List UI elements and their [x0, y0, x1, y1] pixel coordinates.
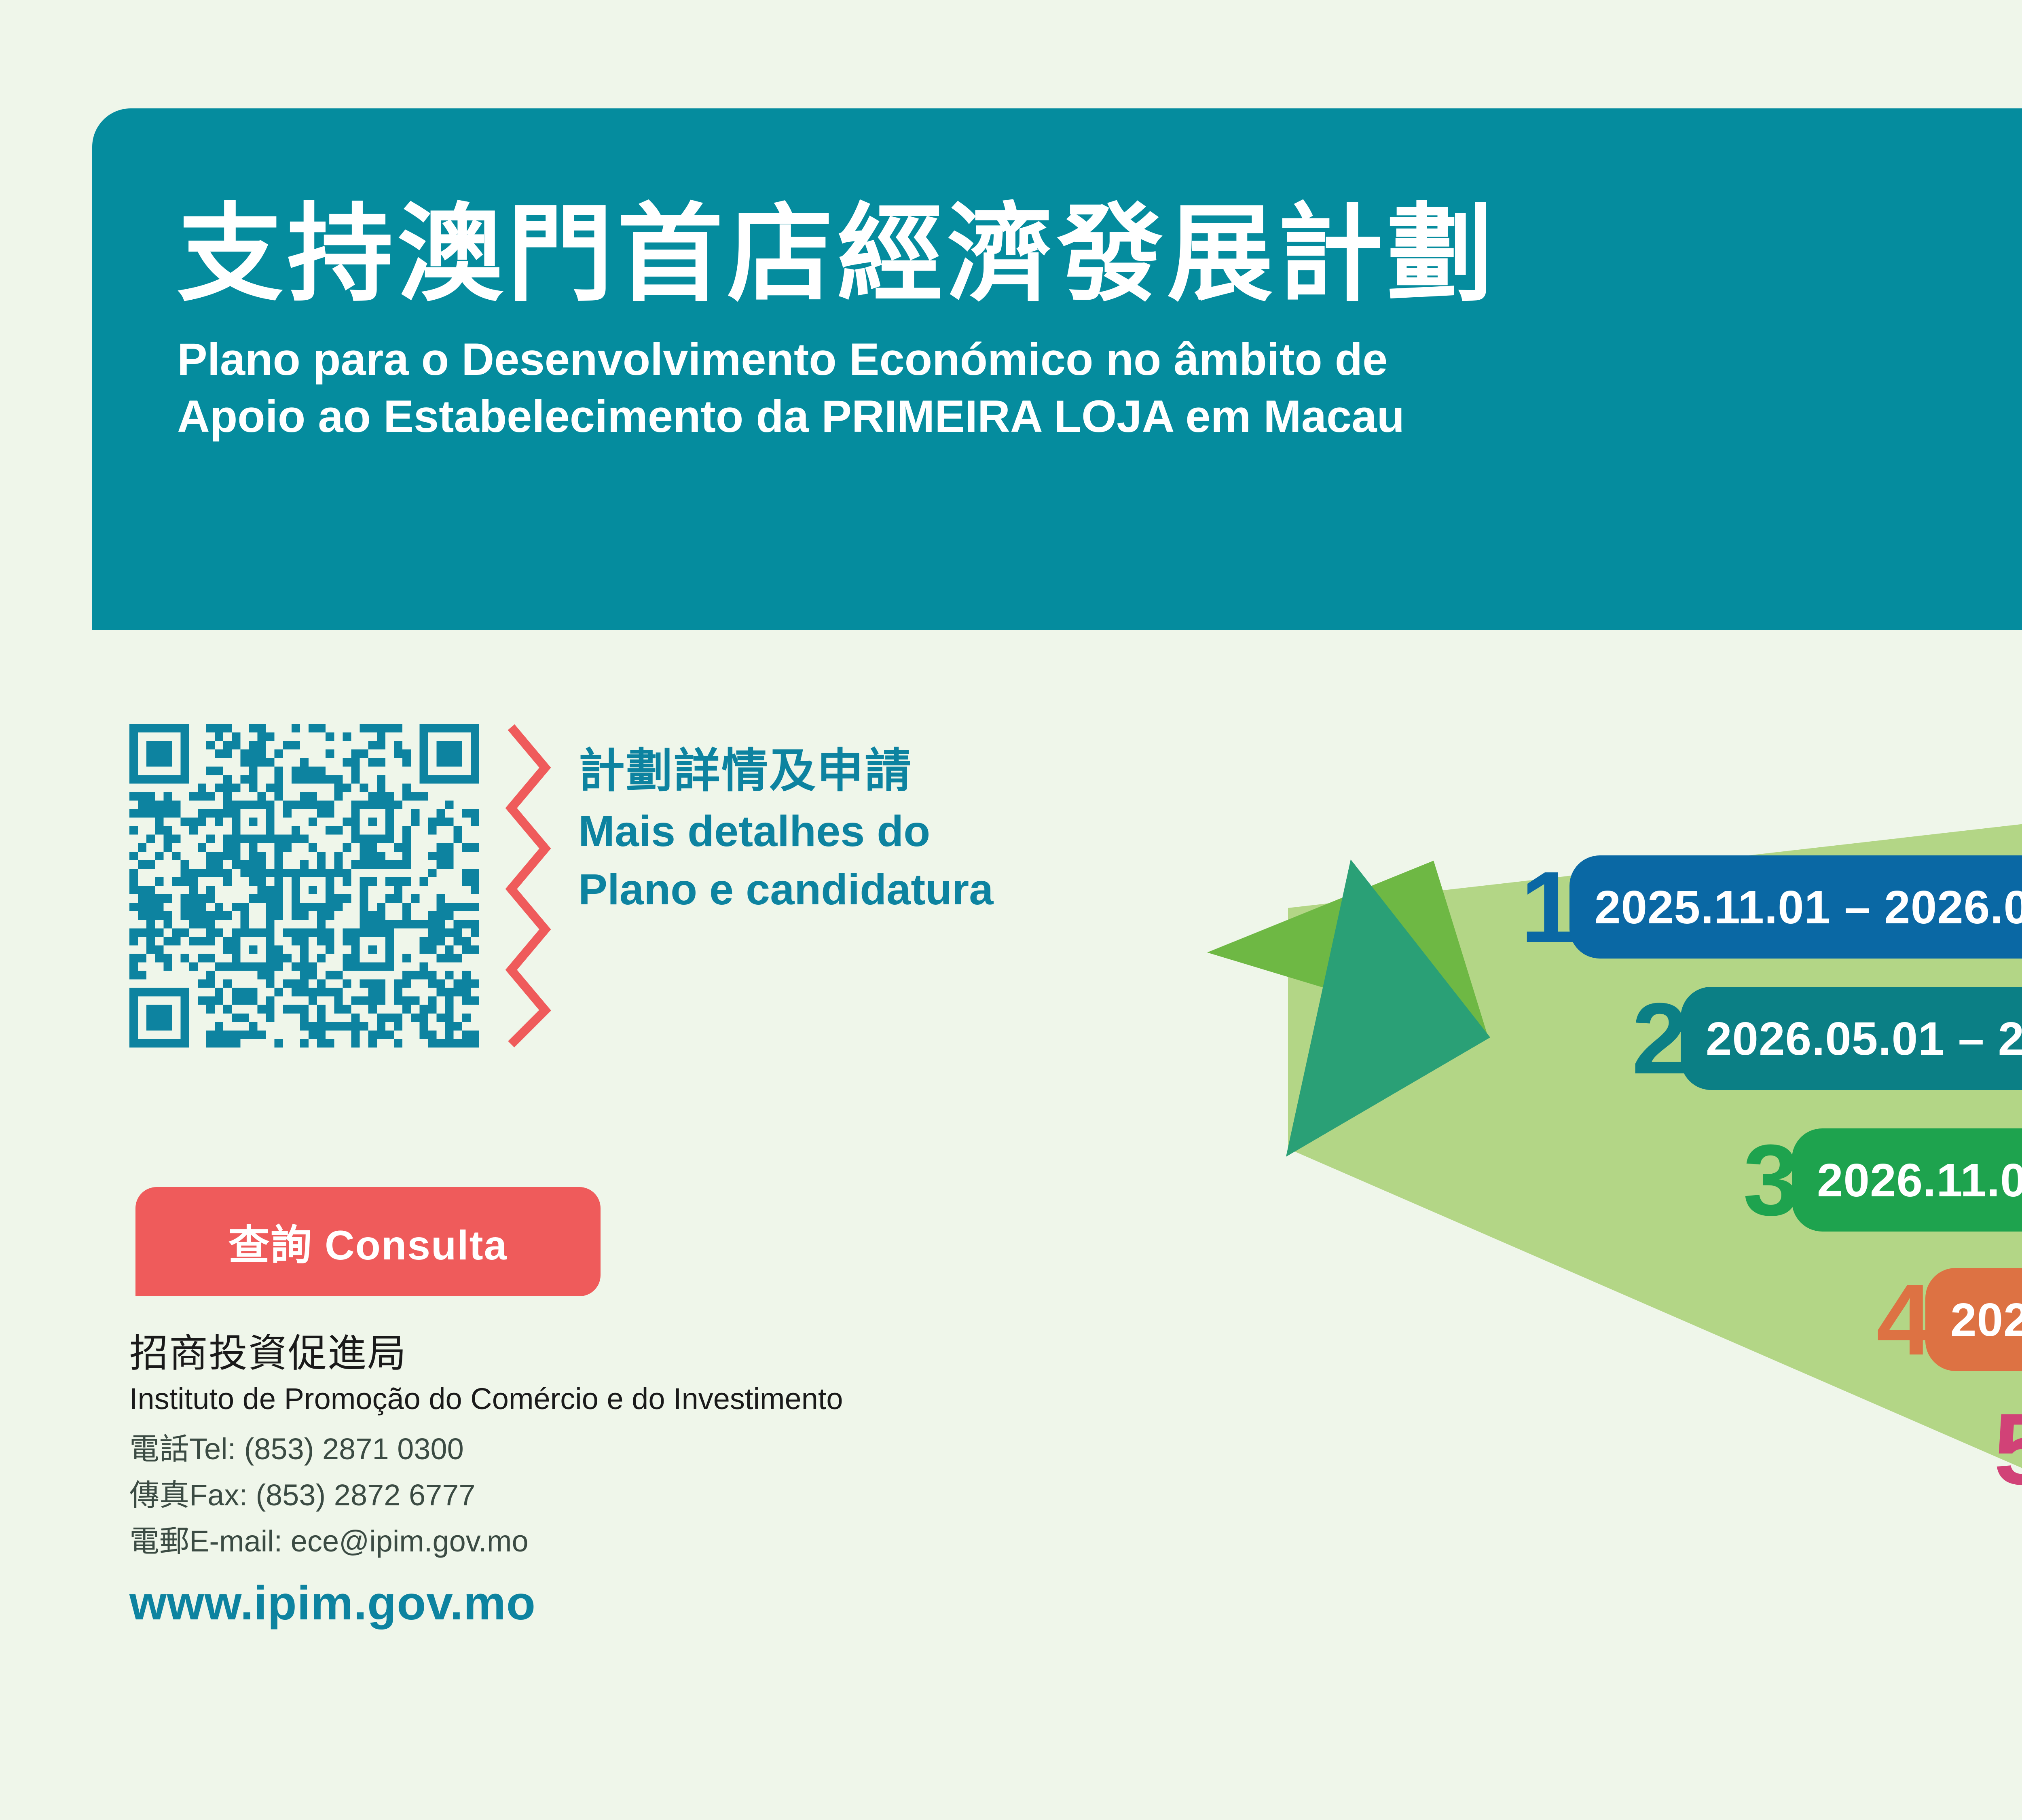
timeline-phase-number: 4: [1876, 1276, 1933, 1363]
contact-fax: 傳真Fax: (853) 2872 6777: [129, 1480, 843, 1510]
header-banner: ABERTA PRIMEIRA LOJA em Macau 支持澳門首店經濟發展…: [92, 108, 2022, 630]
timeline-phase-4: 42027.05.01 – 2027.07.31: [1876, 1268, 2022, 1371]
consulta-badge-label: 查詢 Consulta: [228, 1212, 508, 1272]
timeline-phase-number: 5: [1994, 1405, 2022, 1492]
timeline-phase-number: 3: [1743, 1136, 1799, 1223]
timeline-phase-period: 2025.11.01 – 2026.01.31: [1595, 880, 2022, 934]
timeline-phase-number: 1: [1521, 863, 1577, 950]
header-title-block: 支持澳門首店經濟發展計劃 Plano para o Desenvolviment…: [177, 201, 2022, 445]
timeline-phase-3: 32026.11.01 – 2027.01.31: [1743, 1128, 2022, 1232]
page-title-pt-line-2: Apoio ao Estabelecimento da PRIMEIRA LOJ…: [177, 388, 2022, 445]
contact-telephone: 電話Tel: (853) 2871 0300: [129, 1434, 843, 1464]
page-title-cn: 支持澳門首店經濟發展計劃: [177, 201, 2022, 307]
timeline-phase-pill: 2026.11.01 – 2027.01.31: [1792, 1128, 2022, 1232]
timeline-phase-pill: 2026.05.01 – 2026.07.31: [1681, 987, 2022, 1090]
page-title-pt-line-1: Plano para o Desenvolvimento Económico n…: [177, 331, 2022, 388]
contact-block: 招商投資促進局 Instituto de Promoção do Comérci…: [129, 1331, 843, 1631]
zigzag-divider-icon: [497, 724, 558, 1048]
website-link[interactable]: www.ipim.gov.mo: [129, 1576, 843, 1631]
timeline-phase-period: 2026.11.01 – 2027.01.31: [1817, 1153, 2022, 1207]
plan-details-block: 計劃詳情及申請 Mais detalhes do Plano e candida…: [578, 740, 993, 918]
infographic-poster: ABERTA PRIMEIRA LOJA em Macau 支持澳門首店經濟發展…: [0, 0, 2022, 1820]
timeline-phase-period: 2026.05.01 – 2026.07.31: [1706, 1012, 2022, 1066]
timeline-phase-5: 52027.11.01 – 2028.01.31: [1994, 1397, 2022, 1500]
plan-details-pt-line-1: Mais detalhes do: [578, 802, 993, 860]
timeline-phase-number: 2: [1632, 995, 1688, 1082]
timeline-phase-pill: 2027.05.01 – 2027.07.31: [1925, 1268, 2022, 1371]
consulta-badge: 查詢 Consulta: [135, 1187, 601, 1296]
qr-code-canvas[interactable]: [129, 724, 479, 1048]
organization-name-pt: Instituto de Promoção do Comércio e do I…: [129, 1380, 843, 1418]
page-title-pt: Plano para o Desenvolvimento Económico n…: [177, 331, 2022, 445]
qr-code[interactable]: [129, 724, 479, 1048]
timeline-phase-pill: 2025.11.01 – 2026.01.31: [1569, 855, 2022, 959]
plan-details-heading-cn: 計劃詳情及申請: [578, 740, 993, 802]
plan-details-pt-line-2: Plano e candidatura: [578, 860, 993, 918]
timeline-phase-2: 22026.05.01 – 2026.07.31: [1632, 987, 2022, 1090]
contact-email[interactable]: 電郵E-mail: ece@ipim.gov.mo: [129, 1526, 843, 1556]
timeline-phase-1: 12025.11.01 – 2026.01.31: [1521, 855, 2022, 959]
timeline-phase-period: 2027.05.01 – 2027.07.31: [1950, 1293, 2022, 1347]
organization-name-cn: 招商投資促進局: [129, 1331, 843, 1376]
